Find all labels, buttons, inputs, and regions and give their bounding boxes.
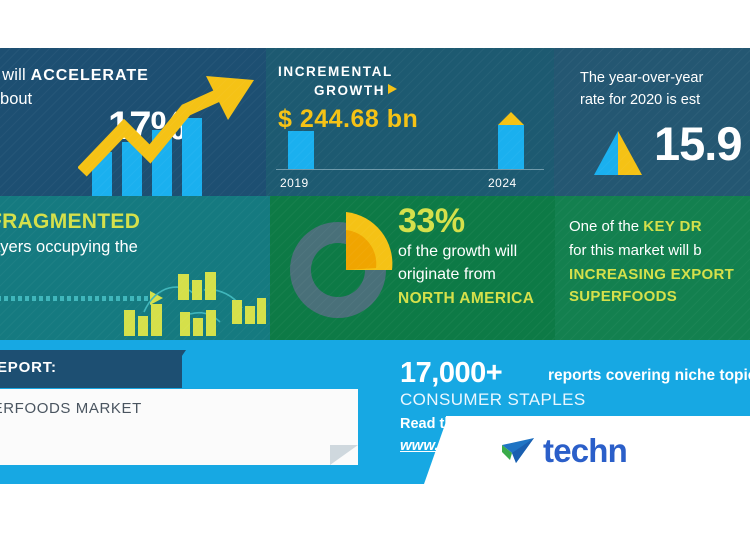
report-tab-corner [160, 350, 186, 388]
technavio-logo: techn [500, 432, 627, 470]
cagr-headline-line2: R of about [0, 90, 32, 109]
incremental-title-line1: INCREMENTAL [278, 64, 393, 79]
panel-fragmented-market: is FRAGMENTED l players occupying the re [0, 196, 270, 340]
yoy-line2: rate for 2020 is est [580, 92, 700, 108]
incremental-growth-value: $ 244.68 bn [278, 105, 418, 134]
fragmented-line1: is FRAGMENTED [0, 210, 140, 234]
upward-trend-arrow-icon [78, 76, 266, 188]
north-america-line1: of the growth will [398, 243, 517, 261]
incremental-bar-2024 [498, 112, 524, 169]
key-drivers-strong: KEY DR [643, 218, 702, 235]
panel-north-america-share: 33% of the growth will originate from NO… [270, 196, 555, 340]
cagr-headline-prefix: rowth will [0, 66, 31, 84]
growth-triangle-icon [590, 131, 646, 175]
panel-incremental-growth: INCREMENTAL GROWTH $ 244.68 bn 2019 2024 [266, 48, 554, 196]
fragmented-line2: l players occupying the [0, 238, 138, 257]
north-america-value: 33% [398, 202, 465, 241]
technavio-wordmark: techn [543, 432, 627, 470]
panel-report-footer: THE REPORT: SUPERFOODS MARKET 24 17,000+… [0, 340, 750, 484]
north-america-region: NORTH AMERICA [398, 290, 534, 308]
panel-key-drivers: One of the KEY DR for this market will b… [555, 196, 750, 340]
reports-description: reports covering niche topic [548, 367, 750, 385]
report-tab-label: THE REPORT: [0, 359, 57, 376]
panel-cagr: rowth will ACCELERATE R of about 17% [0, 48, 266, 196]
yoy-value: 15.9 [654, 116, 741, 171]
key-drivers-line4: SUPERFOODS [569, 288, 677, 305]
incremental-label-2024: 2024 [488, 176, 517, 190]
infographic-canvas: rowth will ACCELERATE R of about 17% INC… [0, 0, 750, 536]
city-buildings-icon [116, 260, 268, 338]
report-card-fold [330, 445, 358, 465]
panel-yoy-growth: The year-over-year rate for 2020 is est … [554, 48, 750, 196]
north-america-line2: originate from [398, 266, 496, 284]
incremental-label-2019: 2019 [280, 176, 309, 190]
incremental-axis [276, 169, 544, 170]
paper-plane-icon [500, 436, 536, 466]
logo-plate-notch [424, 416, 448, 484]
key-drivers-line1: One of the KEY DR [569, 218, 702, 235]
yoy-line1: The year-over-year [580, 70, 703, 86]
key-drivers-line3: INCREASING EXPORT [569, 266, 734, 283]
key-drivers-prefix: One of the [569, 218, 643, 235]
reports-category: CONSUMER STAPLES [400, 390, 586, 410]
incremental-title-line2: GROWTH [314, 83, 385, 98]
key-drivers-line2: for this market will b [569, 242, 702, 259]
incremental-bar-2019 [288, 158, 314, 169]
page-bottom-margin [0, 484, 750, 536]
report-title-line1: SUPERFOODS MARKET [0, 400, 142, 417]
caret-right-icon [388, 84, 397, 94]
fragmented-strong: FRAGMENTED [0, 210, 140, 233]
donut-chart [280, 206, 404, 330]
incremental-growth-title: INCREMENTAL GROWTH [278, 62, 397, 100]
reports-count: 17,000+ [400, 357, 502, 390]
